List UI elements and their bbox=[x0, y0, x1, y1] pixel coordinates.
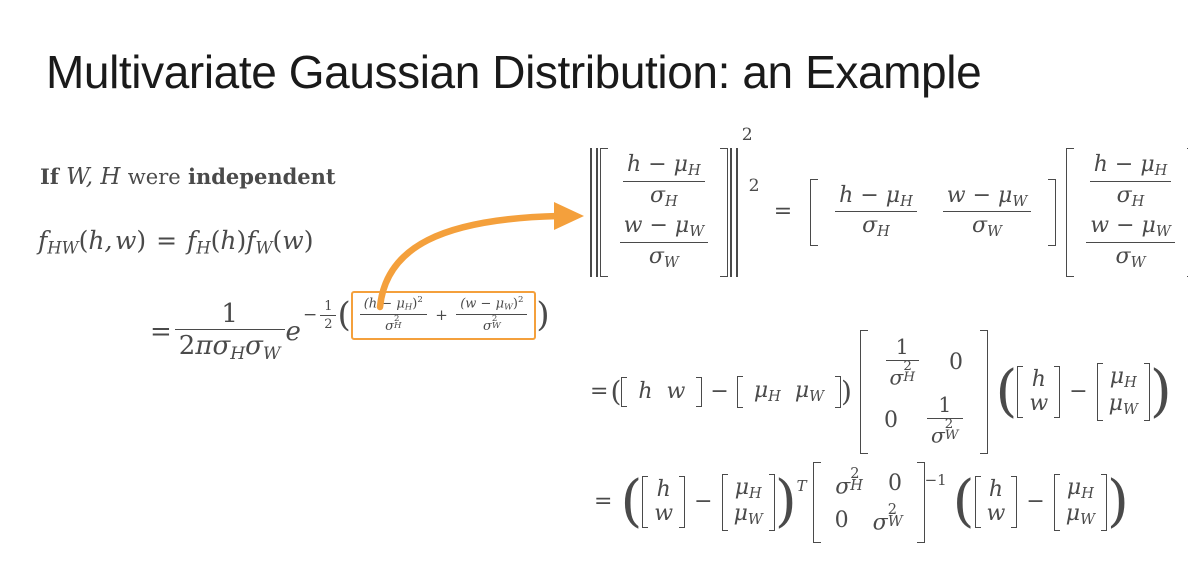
line2-group-open-paren: ( bbox=[996, 375, 1018, 410]
vec-h-minus: − bbox=[648, 152, 666, 177]
cv-h-sigma-sub: H bbox=[1132, 194, 1145, 210]
cov-b-zero: 0 bbox=[888, 471, 902, 496]
t1-den-subsup: 2H bbox=[394, 316, 401, 332]
t2-den-sub: W bbox=[492, 323, 501, 331]
line2-col-hw: h w bbox=[1017, 366, 1060, 418]
line3-equals-sign: = bbox=[592, 491, 614, 513]
standardized-row-vector: h − μH σH w − μW σW bbox=[810, 179, 1056, 246]
vector-row-2: w − μW σW bbox=[612, 212, 717, 273]
f-h-symbol: f bbox=[187, 226, 196, 255]
variable-w: W bbox=[66, 164, 86, 190]
close-paren-2: ) bbox=[237, 226, 247, 255]
l2c-mu-w-sub: W bbox=[1123, 402, 1138, 418]
line2-equals-sign: = bbox=[588, 381, 610, 403]
cv-h: h bbox=[1094, 152, 1108, 177]
rowvec-frac-w-num: w − μW bbox=[943, 184, 1032, 212]
l3d-mu-w-sub: W bbox=[1080, 512, 1095, 528]
rv-h-minus: − bbox=[860, 183, 878, 208]
transpose-exponent: T bbox=[797, 479, 807, 494]
line3-close-paren-1: ) bbox=[775, 485, 797, 520]
quadratic-form-line-3: = ( h w − μH μW ) T σ2H bbox=[592, 462, 1129, 543]
line3-close-paren-2: ) bbox=[1107, 485, 1129, 520]
inv-cov-a-den: σ2H bbox=[886, 360, 919, 389]
l2-mu-w: μ bbox=[795, 378, 809, 403]
vector-row-1: h − μH σH bbox=[612, 151, 717, 212]
vec-w-minus: − bbox=[649, 213, 667, 238]
pdf-denominator: 2πσHσW bbox=[175, 329, 285, 363]
inv-cov-c-zero: 0 bbox=[884, 408, 898, 433]
close-paren: ) bbox=[136, 226, 146, 255]
line3-open-paren-2: ( bbox=[953, 485, 975, 520]
colvec-frac-h: h − μH σH bbox=[1090, 153, 1172, 210]
rowvec-frac-h-den: σH bbox=[835, 211, 917, 241]
f-symbol: f bbox=[38, 226, 47, 255]
inv-cov-d-sub: W bbox=[945, 430, 959, 442]
cv-w-mu-sub: W bbox=[1156, 225, 1171, 241]
inv-cov-bracket-left bbox=[860, 330, 868, 454]
cv-w: w bbox=[1090, 213, 1109, 238]
inv-cov-d-den: σ2W bbox=[927, 418, 963, 447]
line2-minus-sign: − bbox=[708, 381, 730, 403]
inv-cov-a-sub: H bbox=[903, 372, 915, 384]
line2-row-hw: h w bbox=[621, 377, 702, 407]
vec-w-sigma: σ bbox=[649, 244, 664, 269]
equals-sign: = bbox=[154, 226, 179, 255]
rowvec-frac-w: w − μW σW bbox=[943, 184, 1032, 241]
cov-a-subsup: 2H bbox=[850, 468, 863, 495]
line2-close-paren: ) bbox=[841, 381, 852, 403]
inv-cov-a: 1 σ2H bbox=[886, 337, 919, 389]
l2-hw-bracket-right bbox=[696, 377, 702, 407]
colvec-row-1: h − μH σH bbox=[1078, 151, 1183, 212]
vec-w: w bbox=[624, 213, 643, 238]
arg-h: h bbox=[88, 226, 104, 255]
vec-h: h bbox=[627, 152, 641, 177]
inv-cov-row-2: 0 1 σ2W bbox=[870, 392, 978, 450]
pdf-numerator: 1 bbox=[175, 300, 285, 329]
line2-group-close-paren: ) bbox=[1150, 375, 1172, 410]
inv-cov-d-subsup: 2W bbox=[945, 419, 959, 444]
den-pi: π bbox=[195, 331, 212, 361]
t1-den-sigma: σ bbox=[385, 319, 394, 334]
arg-comma: , bbox=[105, 226, 113, 255]
rowvec-frac-w-den: σW bbox=[943, 211, 1032, 241]
if-word: If bbox=[40, 164, 59, 189]
cov-bracket-left bbox=[813, 462, 821, 543]
rv-w-mu-sub: W bbox=[1012, 194, 1027, 210]
standardized-col-vector: h − μH σH w − μW σW bbox=[1066, 148, 1188, 277]
colvec-bracket-left bbox=[1066, 148, 1074, 277]
euler-e: e bbox=[286, 319, 301, 345]
were-word: were bbox=[128, 165, 181, 189]
vec-w-sigma-sub: W bbox=[664, 255, 679, 271]
cov-row-1: σ2H 0 bbox=[823, 466, 915, 502]
l3a-w: w bbox=[654, 501, 673, 526]
line1-equals-sign: = bbox=[772, 201, 794, 223]
colvec-frac-w-den: σW bbox=[1086, 242, 1175, 272]
colvec-row-2: w − μW σW bbox=[1078, 212, 1183, 273]
colvec-frac-w-num: w − μW bbox=[1086, 214, 1175, 242]
line3-open-paren-1: ( bbox=[620, 485, 642, 520]
l2c-h: h bbox=[1032, 367, 1046, 392]
l3b-mu-h-sub: H bbox=[749, 486, 762, 502]
line2-row-mu: μH μW bbox=[737, 376, 841, 409]
covariance-matrix: σ2H 0 0 σ2W bbox=[813, 462, 925, 543]
cov-c-zero: 0 bbox=[835, 508, 849, 533]
den-two: 2 bbox=[179, 331, 196, 361]
vec-w-mu: μ bbox=[675, 213, 689, 238]
norm-identity-line: h − μH σH w − μW σW bbox=[588, 148, 1188, 282]
line2-group-minus-sign: − bbox=[1067, 381, 1089, 403]
inv-cov-bracket-right bbox=[980, 330, 988, 454]
vec-frac-h-num: h − μH bbox=[623, 153, 705, 181]
vec-frac-h: h − μH σH bbox=[623, 153, 705, 210]
pdf-equals-sign: = bbox=[148, 319, 174, 345]
cv-h-mu-sub: H bbox=[1155, 163, 1168, 179]
l3d-mu-h: μ bbox=[1067, 475, 1081, 500]
l3d-mu-w: μ bbox=[1066, 501, 1080, 526]
l2-h: h bbox=[638, 379, 652, 404]
bracket-left bbox=[600, 148, 608, 277]
t2-den-subsup: 2W bbox=[492, 316, 501, 332]
vec-h-mu-sub: H bbox=[688, 163, 701, 179]
line2-col-mu: μH μW bbox=[1097, 363, 1150, 420]
rv-h-mu: μ bbox=[886, 183, 900, 208]
rowvec-bracket-right bbox=[1048, 179, 1056, 246]
cv-w-mu: μ bbox=[1142, 213, 1156, 238]
l2c-mu-h: μ bbox=[1110, 364, 1124, 389]
inv-cov-b-zero: 0 bbox=[949, 350, 963, 375]
l2-mu-h-sub: H bbox=[768, 389, 781, 405]
page-title: Multivariate Gaussian Distribution: an E… bbox=[46, 45, 981, 99]
cv-w-sigma-sub: W bbox=[1131, 255, 1146, 271]
cov-bracket-right bbox=[917, 462, 925, 543]
l2-mu-w-sub: W bbox=[809, 389, 824, 405]
colvec-frac-h-den: σH bbox=[1090, 181, 1172, 211]
l2c-w: w bbox=[1029, 391, 1048, 416]
vec-frac-w: w − μW σW bbox=[620, 214, 709, 271]
norm-order-subscript: 2 bbox=[749, 176, 760, 196]
vec-h-sigma: σ bbox=[650, 183, 665, 208]
rv-h: h bbox=[839, 183, 853, 208]
inv-cov-d-num: 1 bbox=[927, 395, 963, 418]
comma: , bbox=[86, 164, 93, 190]
f-subscript-hw: HW bbox=[47, 239, 78, 258]
vec-h-mu: μ bbox=[674, 152, 688, 177]
vec-w-mu-sub: W bbox=[689, 225, 704, 241]
vec-frac-w-den: σW bbox=[620, 242, 709, 272]
colvec-frac-w: w − μW σW bbox=[1086, 214, 1175, 271]
norm-right-bars bbox=[728, 148, 740, 277]
vec-h-sigma-sub: H bbox=[665, 194, 678, 210]
line3-col-mu-2: μH μW bbox=[1054, 474, 1107, 531]
t1-den-sub: H bbox=[394, 323, 401, 331]
line3-col-hw-2: h w bbox=[975, 476, 1018, 528]
variable-h: H bbox=[100, 164, 120, 190]
line3-col-hw-1: h w bbox=[642, 476, 685, 528]
rv-h-sigma: σ bbox=[862, 213, 877, 238]
open-paren: ( bbox=[79, 226, 89, 255]
rv-h-mu-sub: H bbox=[900, 194, 913, 210]
l3c-w: w bbox=[987, 501, 1006, 526]
independent-word: independent bbox=[188, 164, 336, 189]
inv-cov-d-sigma: σ bbox=[931, 423, 945, 447]
rv-w-mu: μ bbox=[998, 183, 1012, 208]
bracket-right bbox=[720, 148, 728, 277]
standardized-vector: h − μH σH w − μW σW bbox=[600, 148, 729, 277]
rv-w-minus: − bbox=[973, 183, 991, 208]
cv-w-sigma: σ bbox=[1116, 244, 1131, 269]
curved-arrow bbox=[322, 185, 602, 315]
l2c-mu-h-sub: H bbox=[1124, 375, 1137, 391]
inv-cov-row-1: 1 σ2H 0 bbox=[870, 334, 978, 392]
l3b-mu-h: μ bbox=[735, 475, 749, 500]
f-w-symbol: f bbox=[246, 226, 255, 255]
boxed-term-2-denominator: σ2W bbox=[456, 314, 527, 334]
cv-h-sigma: σ bbox=[1117, 183, 1132, 208]
open-paren-2: ( bbox=[211, 226, 221, 255]
line3-minus-2: − bbox=[1024, 491, 1046, 513]
rv-h-sigma-sub: H bbox=[877, 225, 890, 241]
norm-expression: h − μH σH w − μW σW bbox=[588, 148, 756, 277]
inv-cov-d: 1 σ2W bbox=[927, 395, 963, 447]
inv-cov-a-sigma: σ bbox=[890, 365, 904, 389]
l3d-mu-h-sub: H bbox=[1081, 486, 1094, 502]
l2-w: w bbox=[667, 379, 686, 404]
f-subscript-h: H bbox=[196, 239, 210, 258]
close-paren-3: ) bbox=[304, 226, 314, 255]
cov-d-subsup: 2W bbox=[888, 504, 903, 531]
cv-w-minus: − bbox=[1116, 213, 1134, 238]
vec-frac-h-den: σH bbox=[623, 181, 705, 211]
pdf-normalization-fraction: 1 2πσHσW bbox=[175, 300, 285, 363]
l3b-mu-w: μ bbox=[734, 501, 748, 526]
cov-a-sub: H bbox=[850, 480, 863, 493]
l3b-mu-w-sub: W bbox=[748, 512, 763, 528]
den-sigma-w: σ bbox=[245, 331, 263, 361]
rv-w-sigma: σ bbox=[972, 213, 987, 238]
l2c-mu-w: μ bbox=[1109, 391, 1123, 416]
rv-w-sigma-sub: W bbox=[987, 225, 1002, 241]
exp-half-denominator: 2 bbox=[320, 315, 336, 332]
cv-h-mu: μ bbox=[1140, 152, 1154, 177]
vec-frac-w-num: w − μW bbox=[620, 214, 709, 242]
cov-a-sigma: σ bbox=[835, 474, 850, 499]
arg-w: w bbox=[115, 226, 136, 255]
line3-minus-1: − bbox=[692, 491, 714, 513]
rowvec-row: h − μH σH w − μW σW bbox=[822, 182, 1044, 243]
independence-heading: If W, H were independent bbox=[40, 166, 336, 189]
factorization-equation: fHW(h, w) = fH(h)fW(w) bbox=[38, 228, 313, 257]
exp-minus-sign: − bbox=[301, 307, 319, 324]
line3-col-mu-1: μH μW bbox=[722, 474, 775, 531]
cov-row-2: 0 σ2W bbox=[823, 502, 915, 538]
l3a-h: h bbox=[657, 477, 671, 502]
inverse-exponent: −1 bbox=[925, 473, 947, 488]
norm-left-bars bbox=[588, 148, 600, 277]
arg-w-2: w bbox=[282, 226, 303, 255]
den-sigma-h-sub: H bbox=[230, 344, 245, 364]
boxed-term-1-denominator: σ2H bbox=[360, 314, 427, 334]
rowvec-bracket-left bbox=[810, 179, 818, 246]
norm-exponent: 2 bbox=[742, 125, 753, 145]
open-paren-3: ( bbox=[273, 226, 283, 255]
quadratic-form-line-2: = ( h w − μH μW ) bbox=[588, 330, 1172, 454]
f-subscript-w: W bbox=[256, 239, 273, 258]
t2-den-sigma: σ bbox=[483, 319, 492, 334]
rv-w: w bbox=[947, 183, 966, 208]
inv-cov-a-num: 1 bbox=[886, 337, 919, 360]
inverse-covariance-matrix: 1 σ2H 0 0 1 σ2W bbox=[860, 330, 988, 454]
line2-open-paren: ( bbox=[610, 381, 621, 403]
rowvec-frac-h: h − μH σH bbox=[835, 184, 917, 241]
rowvec-frac-h-num: h − μH bbox=[835, 184, 917, 212]
l3a-bracket-right bbox=[679, 476, 685, 528]
cov-d-sub: W bbox=[888, 516, 903, 529]
cv-h-minus: − bbox=[1115, 152, 1133, 177]
cov-d-sigma: σ bbox=[873, 511, 888, 536]
colvec-frac-h-num: h − μH bbox=[1090, 153, 1172, 181]
arg-h-2: h bbox=[220, 226, 236, 255]
den-sigma-w-sub: W bbox=[263, 344, 281, 364]
inv-cov-a-subsup: 2H bbox=[903, 361, 915, 386]
l2c-hw-bracket-right bbox=[1054, 366, 1060, 418]
l3c-h: h bbox=[989, 477, 1003, 502]
l2-mu-h: μ bbox=[754, 378, 768, 403]
l3c-bracket-right bbox=[1011, 476, 1017, 528]
den-sigma-h: σ bbox=[212, 331, 230, 361]
